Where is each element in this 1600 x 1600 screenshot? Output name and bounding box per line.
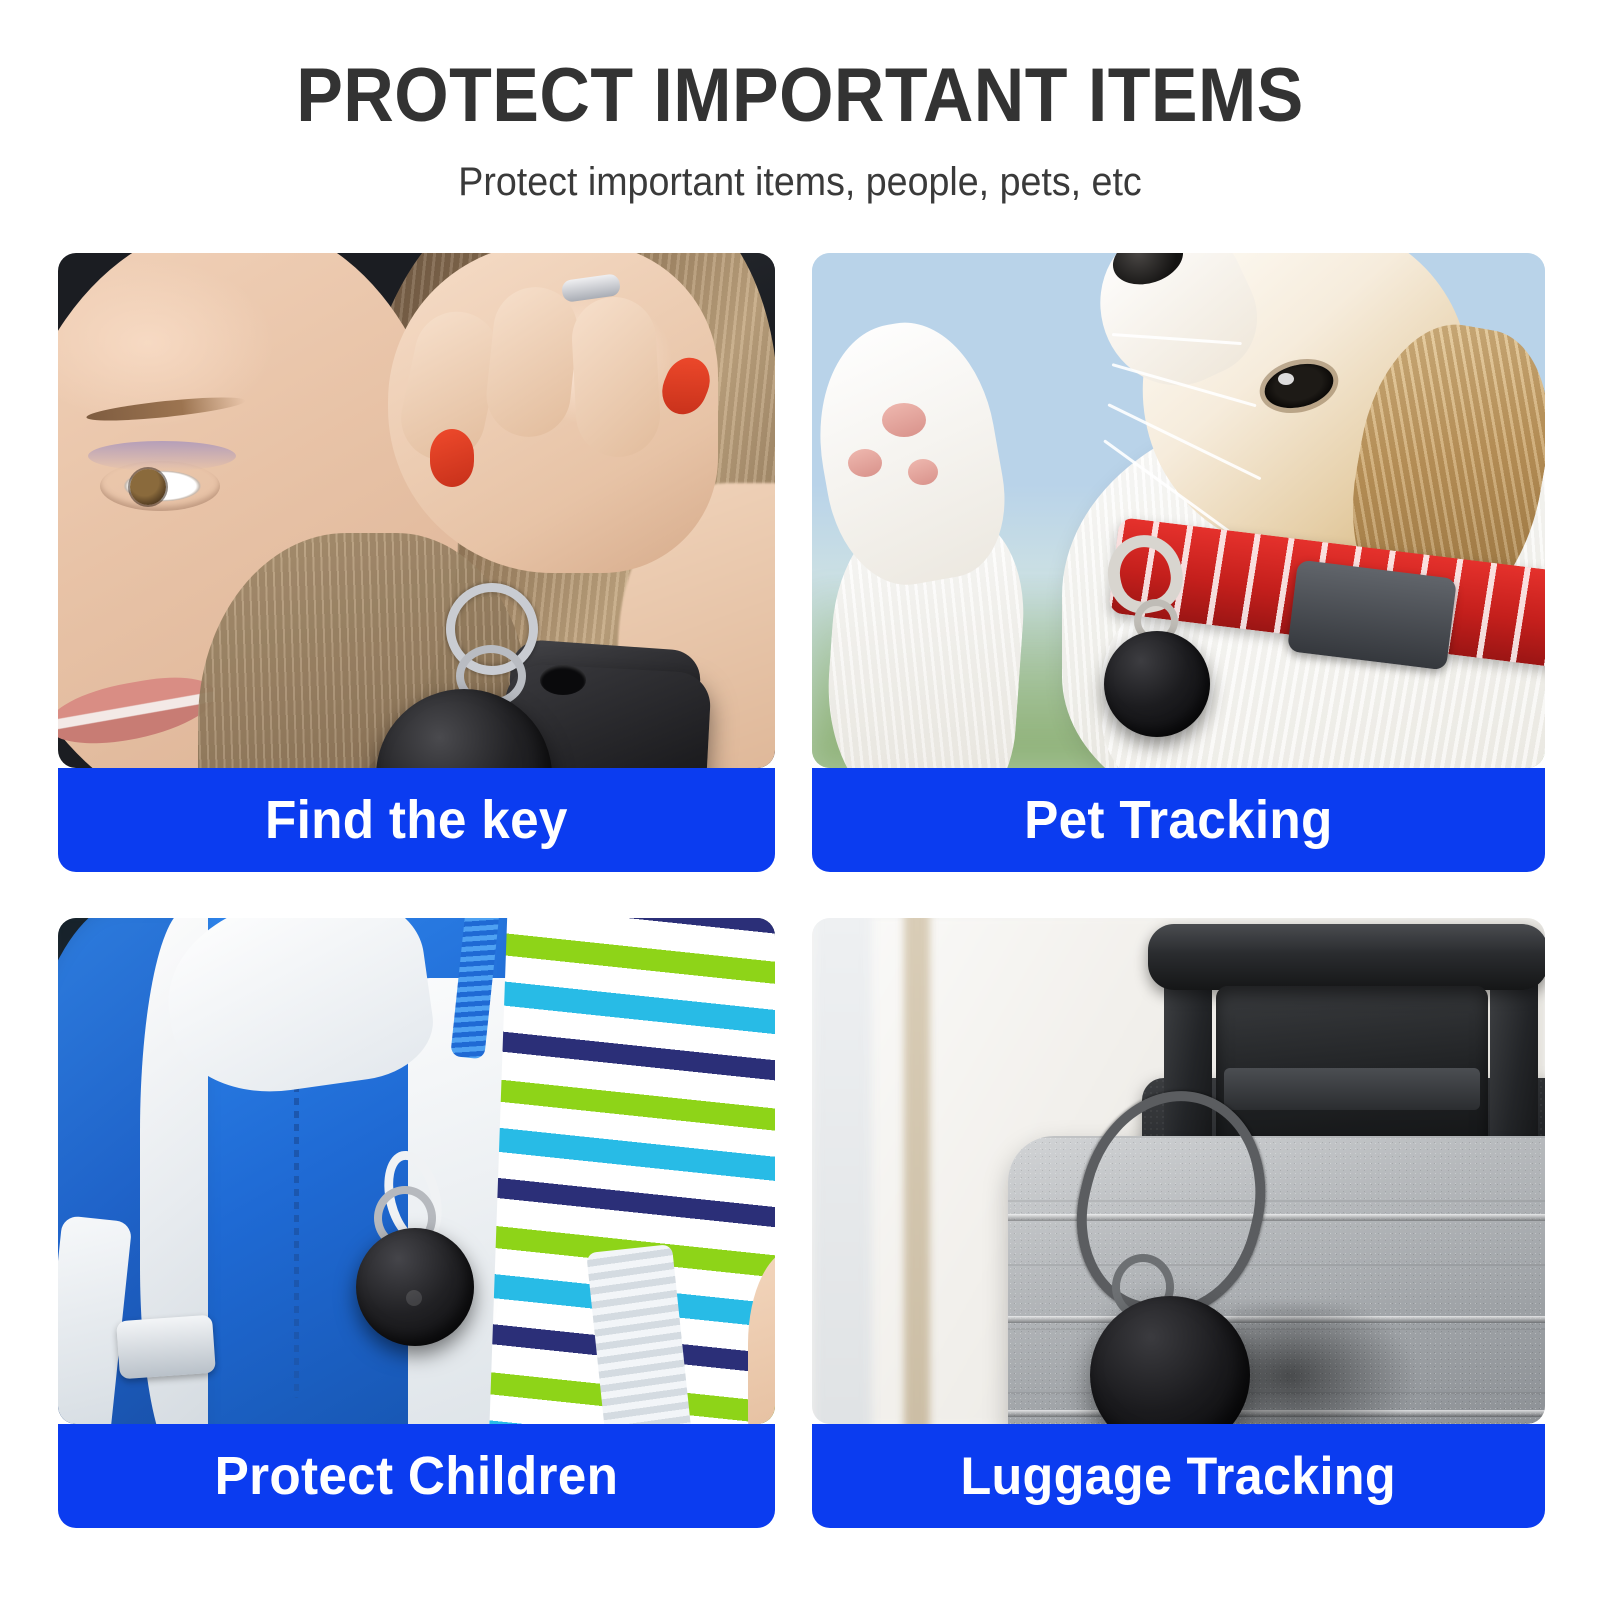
suitcase-handle-bar [1148, 924, 1545, 990]
header: PROTECT IMPORTANT ITEMS Protect importan… [0, 0, 1600, 205]
handle-recess-ledge [1224, 1068, 1480, 1110]
photo-protect-children [58, 918, 775, 1424]
card-caption-label: Luggage Tracking [961, 1446, 1396, 1507]
card-caption-protect-children: Protect Children [58, 1424, 775, 1528]
tracker-tag-shadow [1232, 1304, 1422, 1424]
paw-pad [908, 459, 938, 485]
strap-buckle [116, 1315, 216, 1380]
card-caption-pet-tracking: Pet Tracking [812, 768, 1545, 872]
card-caption-label: Pet Tracking [1024, 789, 1332, 851]
fingernail [430, 429, 474, 487]
background-pillar [904, 918, 930, 1424]
paw-pad [882, 403, 926, 437]
tracker-tag-button [406, 1290, 422, 1306]
use-case-card-pet-tracking[interactable]: Pet Tracking [812, 253, 1545, 872]
finger [570, 295, 662, 459]
photo-pet-tracking [812, 253, 1545, 768]
card-caption-find-the-key: Find the key [58, 768, 775, 872]
card-caption-label: Protect Children [215, 1445, 619, 1507]
card-caption-label: Find the key [265, 789, 568, 851]
puppy-eye-glint [1278, 373, 1294, 385]
background-pillar [812, 918, 872, 1424]
paw-pad [848, 449, 882, 477]
collar-buckle [1287, 560, 1457, 671]
page-subtitle: Protect important items, people, pets, e… [48, 160, 1552, 205]
key-fob-ring-hole [540, 665, 586, 695]
use-case-card-find-the-key[interactable]: UNLOCK LOCK Find the key [58, 253, 775, 872]
tracker-tag-icon [356, 1228, 474, 1346]
iris [130, 469, 166, 505]
use-case-card-protect-children[interactable]: Protect Children [58, 918, 775, 1530]
photo-find-the-key: UNLOCK LOCK [58, 253, 775, 768]
tracker-tag-icon [1104, 631, 1210, 737]
photo-luggage-tracking [812, 918, 1545, 1424]
use-case-grid: UNLOCK LOCK Find the key [58, 253, 1545, 1530]
use-case-card-luggage-tracking[interactable]: Luggage Tracking [812, 918, 1545, 1530]
card-caption-luggage-tracking: Luggage Tracking [812, 1424, 1545, 1528]
page-title: PROTECT IMPORTANT ITEMS [64, 58, 1536, 134]
